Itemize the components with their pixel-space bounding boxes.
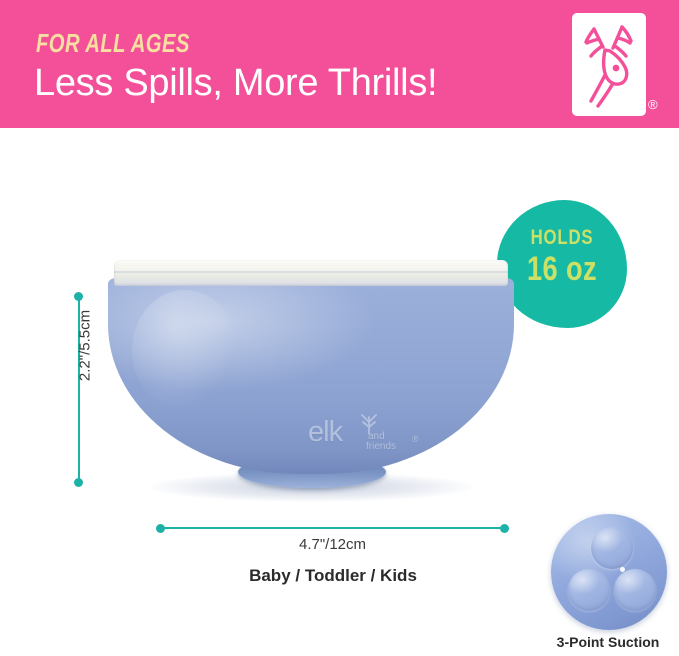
header-headline: Less Spills, More Thrills! — [34, 62, 437, 105]
emboss-friends-text: friends — [366, 442, 396, 453]
emboss-registered-symbol: ® — [412, 434, 419, 444]
suction-base-inset: 3-Point Suction — [537, 514, 679, 656]
brand-logo — [572, 13, 646, 116]
badge-label-holds: Holds — [510, 226, 614, 250]
holds-capacity-badge: Holds 16 oz — [497, 200, 627, 328]
width-measure-label: 4.7"/12cm — [161, 536, 504, 553]
suction-cup-top — [591, 527, 633, 569]
age-range-caption: Baby / Toddler / Kids — [150, 566, 516, 586]
suction-center-highlight — [620, 567, 625, 572]
width-measure-dot-left — [156, 524, 165, 533]
badge-label-amount: 16 oz — [510, 250, 614, 289]
bowl-embossed-logo: elk and friends ® — [308, 410, 434, 462]
suction-cup-right — [614, 569, 656, 611]
bowl-lid — [114, 260, 508, 286]
logo-registered-symbol: ® — [648, 98, 658, 111]
product-infographic: For All Ages Less Spills, More Thrills! — [0, 0, 679, 656]
width-measure-dot-right — [500, 524, 509, 533]
width-measure-line — [161, 527, 504, 529]
header-eyebrow: For All Ages — [36, 28, 190, 59]
height-measure-dot-bottom — [74, 478, 83, 487]
elk-head-icon — [572, 13, 646, 116]
product-bowl-image: elk and friends ® — [108, 260, 514, 520]
height-measure-label: 2.2"/5.5cm — [77, 291, 94, 401]
emboss-brand-text: elk — [308, 418, 342, 447]
suction-caption: 3-Point Suction — [537, 634, 679, 650]
suction-cup-left — [568, 569, 610, 611]
suction-disc — [551, 514, 667, 630]
